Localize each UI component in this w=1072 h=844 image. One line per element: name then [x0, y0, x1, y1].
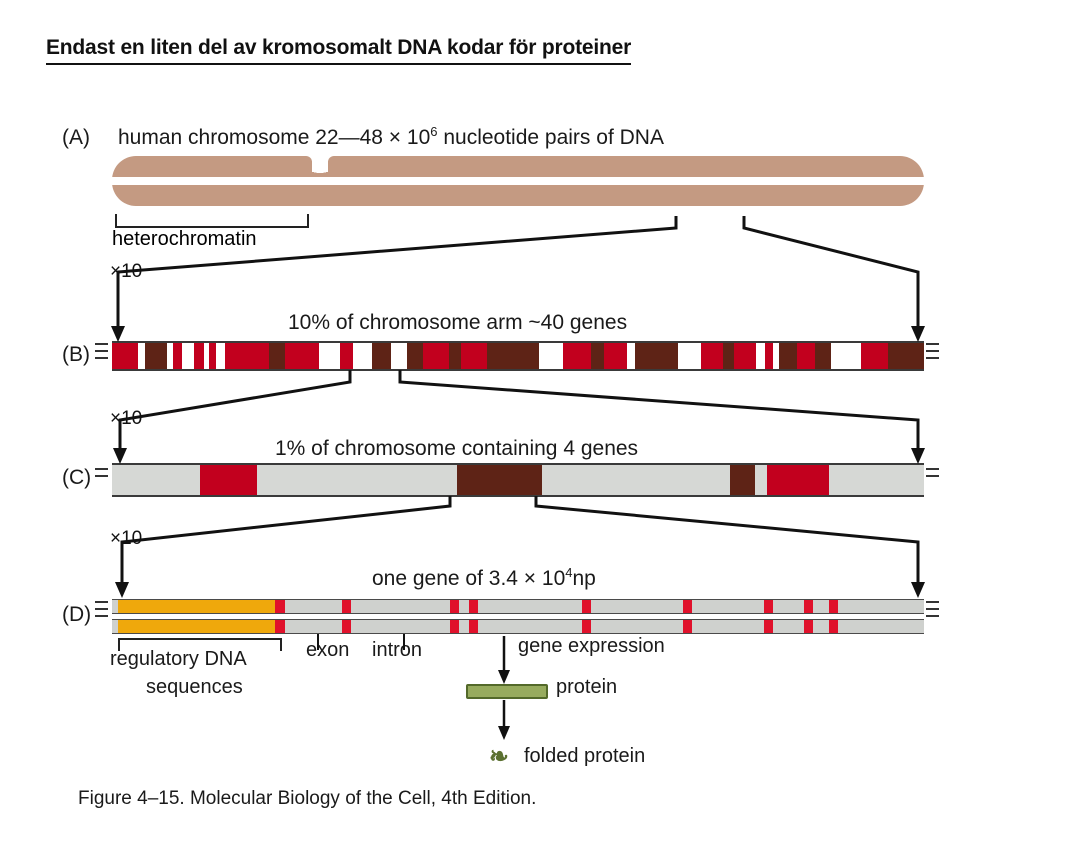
- regulatory-dna-label-line1: regulatory DNA: [110, 648, 247, 671]
- arrow-head-gene-expression: [498, 670, 510, 684]
- chromatin-band: [756, 343, 765, 369]
- exon-label: exon: [306, 639, 349, 662]
- exon-block: [764, 620, 773, 633]
- gene-block: [457, 465, 542, 495]
- panel-d-caption-pre: one gene of 3.4 × 10: [372, 567, 565, 590]
- gene-block: [767, 465, 829, 495]
- protein-label: protein: [556, 676, 617, 699]
- chromosome-arm-band-bar: [112, 341, 924, 371]
- chromatin-band: [604, 343, 627, 369]
- intron-label: intron: [372, 639, 422, 662]
- chromosome-22-graphic: [112, 156, 924, 206]
- panel-letter-a: (A): [62, 126, 90, 150]
- chromatid-split-line: [112, 177, 924, 185]
- chromatin-band: [145, 343, 167, 369]
- panel-letter-b: (B): [62, 343, 90, 367]
- panel-letter-c: (C): [62, 466, 91, 490]
- regulatory-dna-region: [118, 620, 275, 633]
- exon-block: [450, 620, 459, 633]
- panel-a-caption-pre: human chromosome 22—48 × 10: [118, 126, 430, 149]
- chromatin-band: [138, 343, 145, 369]
- panel-a-caption-exponent: 6: [430, 124, 437, 139]
- folded-protein-icon: ❧: [489, 742, 509, 772]
- folded-protein-label: folded protein: [524, 745, 645, 768]
- exon-block: [450, 600, 459, 613]
- chromatin-band: [563, 343, 591, 369]
- panel-d-left-dashes: [95, 601, 108, 622]
- figure-caption: Figure 4–15. Molecular Biology of the Ce…: [78, 788, 536, 810]
- chromatin-band: [225, 343, 269, 369]
- arrow-b-to-c-left: [113, 448, 127, 464]
- chromatin-band: [861, 343, 888, 369]
- arrow-head-folding: [498, 726, 510, 740]
- panel-a-caption: human chromosome 22—48 × 106 nucleotide …: [118, 126, 664, 150]
- chromatin-band: [461, 343, 487, 369]
- chromatin-band: [112, 343, 138, 369]
- chromatin-band: [627, 343, 635, 369]
- panel-d-caption-post: np: [573, 567, 596, 590]
- panel-letter-d: (D): [62, 603, 91, 627]
- panel-c-caption: 1% of chromosome containing 4 genes: [275, 437, 638, 461]
- chromatin-band: [173, 343, 182, 369]
- centromere-split-line: [302, 177, 338, 185]
- panel-b-left-dashes: [95, 343, 108, 364]
- chromatin-band: [285, 343, 319, 369]
- chromatin-band: [888, 343, 924, 369]
- panel-d-caption-exponent: 4: [565, 565, 572, 580]
- exon-block: [804, 600, 813, 613]
- chromatin-band: [831, 343, 861, 369]
- panel-b-right-dashes: [926, 343, 939, 364]
- chromatin-band: [340, 343, 353, 369]
- exon-block: [764, 600, 773, 613]
- exon-block: [275, 620, 285, 633]
- chromatin-band: [723, 343, 734, 369]
- chromatin-band: [539, 343, 563, 369]
- chromatin-band: [372, 343, 391, 369]
- zoom-label-b-to-c: ×10: [110, 408, 142, 430]
- chromatin-band: [701, 343, 723, 369]
- zoom-label-a-to-b: ×10: [110, 261, 142, 283]
- chromatin-band: [209, 343, 216, 369]
- arrow-a-to-b-right: [911, 326, 925, 342]
- panel-d-caption: one gene of 3.4 × 104np: [372, 567, 596, 591]
- page-title: Endast en liten del av kromosomalt DNA k…: [46, 36, 631, 65]
- exon-block: [469, 600, 478, 613]
- exon-block: [829, 620, 838, 633]
- connector-a-to-b-right: [744, 216, 918, 334]
- panel-a-caption-post: nucleotide pairs of DNA: [438, 126, 664, 149]
- protein-bar-graphic: [466, 684, 548, 699]
- chromatin-band: [797, 343, 815, 369]
- chromatin-band: [319, 343, 340, 369]
- panel-c-left-dashes: [95, 468, 108, 482]
- exon-block: [342, 620, 351, 633]
- gene-block: [200, 465, 257, 495]
- chromatin-band: [407, 343, 423, 369]
- exon-block: [683, 620, 692, 633]
- zoom-label-c-to-d: ×10: [110, 528, 142, 550]
- chromatin-band: [591, 343, 604, 369]
- panel-c-right-dashes: [926, 468, 939, 482]
- chromatin-band: [423, 343, 449, 369]
- exon-block: [683, 600, 692, 613]
- chromatin-band: [678, 343, 700, 369]
- chromatin-band: [449, 343, 461, 369]
- dna-strand-top: [112, 599, 924, 614]
- exon-block: [469, 620, 478, 633]
- arrow-b-to-c-right: [911, 448, 925, 464]
- exon-block: [275, 600, 285, 613]
- arrow-a-to-b-left: [111, 326, 125, 342]
- exon-block: [582, 600, 591, 613]
- exon-block: [829, 600, 838, 613]
- arrow-c-to-d-right: [911, 582, 925, 598]
- chromatin-band: [487, 343, 539, 369]
- chromosome-segment-bar: [112, 463, 924, 497]
- heterochromatin-label: heterochromatin: [112, 228, 257, 251]
- chromatin-band: [765, 343, 773, 369]
- chromatin-band: [779, 343, 797, 369]
- chromatin-band: [815, 343, 831, 369]
- regulatory-dna-label-line2: sequences: [146, 676, 243, 699]
- panel-b-caption: 10% of chromosome arm ~40 genes: [288, 311, 627, 335]
- chromatin-band: [216, 343, 225, 369]
- figure-page: Endast en liten del av kromosomalt DNA k…: [0, 0, 1072, 844]
- chromatin-band: [391, 343, 407, 369]
- chromatin-band: [194, 343, 204, 369]
- chromatin-band: [353, 343, 372, 369]
- chromatin-band: [182, 343, 194, 369]
- chromatin-band: [734, 343, 756, 369]
- gene-expression-label: gene expression: [518, 635, 665, 658]
- heterochromatin-bracket: [115, 214, 309, 228]
- gene-structure-bar: [112, 598, 924, 634]
- gene-block: [730, 465, 755, 495]
- arrow-c-to-d-left: [115, 582, 129, 598]
- exon-block: [582, 620, 591, 633]
- exon-block: [342, 600, 351, 613]
- panel-d-right-dashes: [926, 601, 939, 622]
- dna-strand-bottom: [112, 619, 924, 634]
- exon-block: [804, 620, 813, 633]
- chromatin-band: [269, 343, 285, 369]
- regulatory-dna-region: [118, 600, 275, 613]
- chromatin-band: [635, 343, 678, 369]
